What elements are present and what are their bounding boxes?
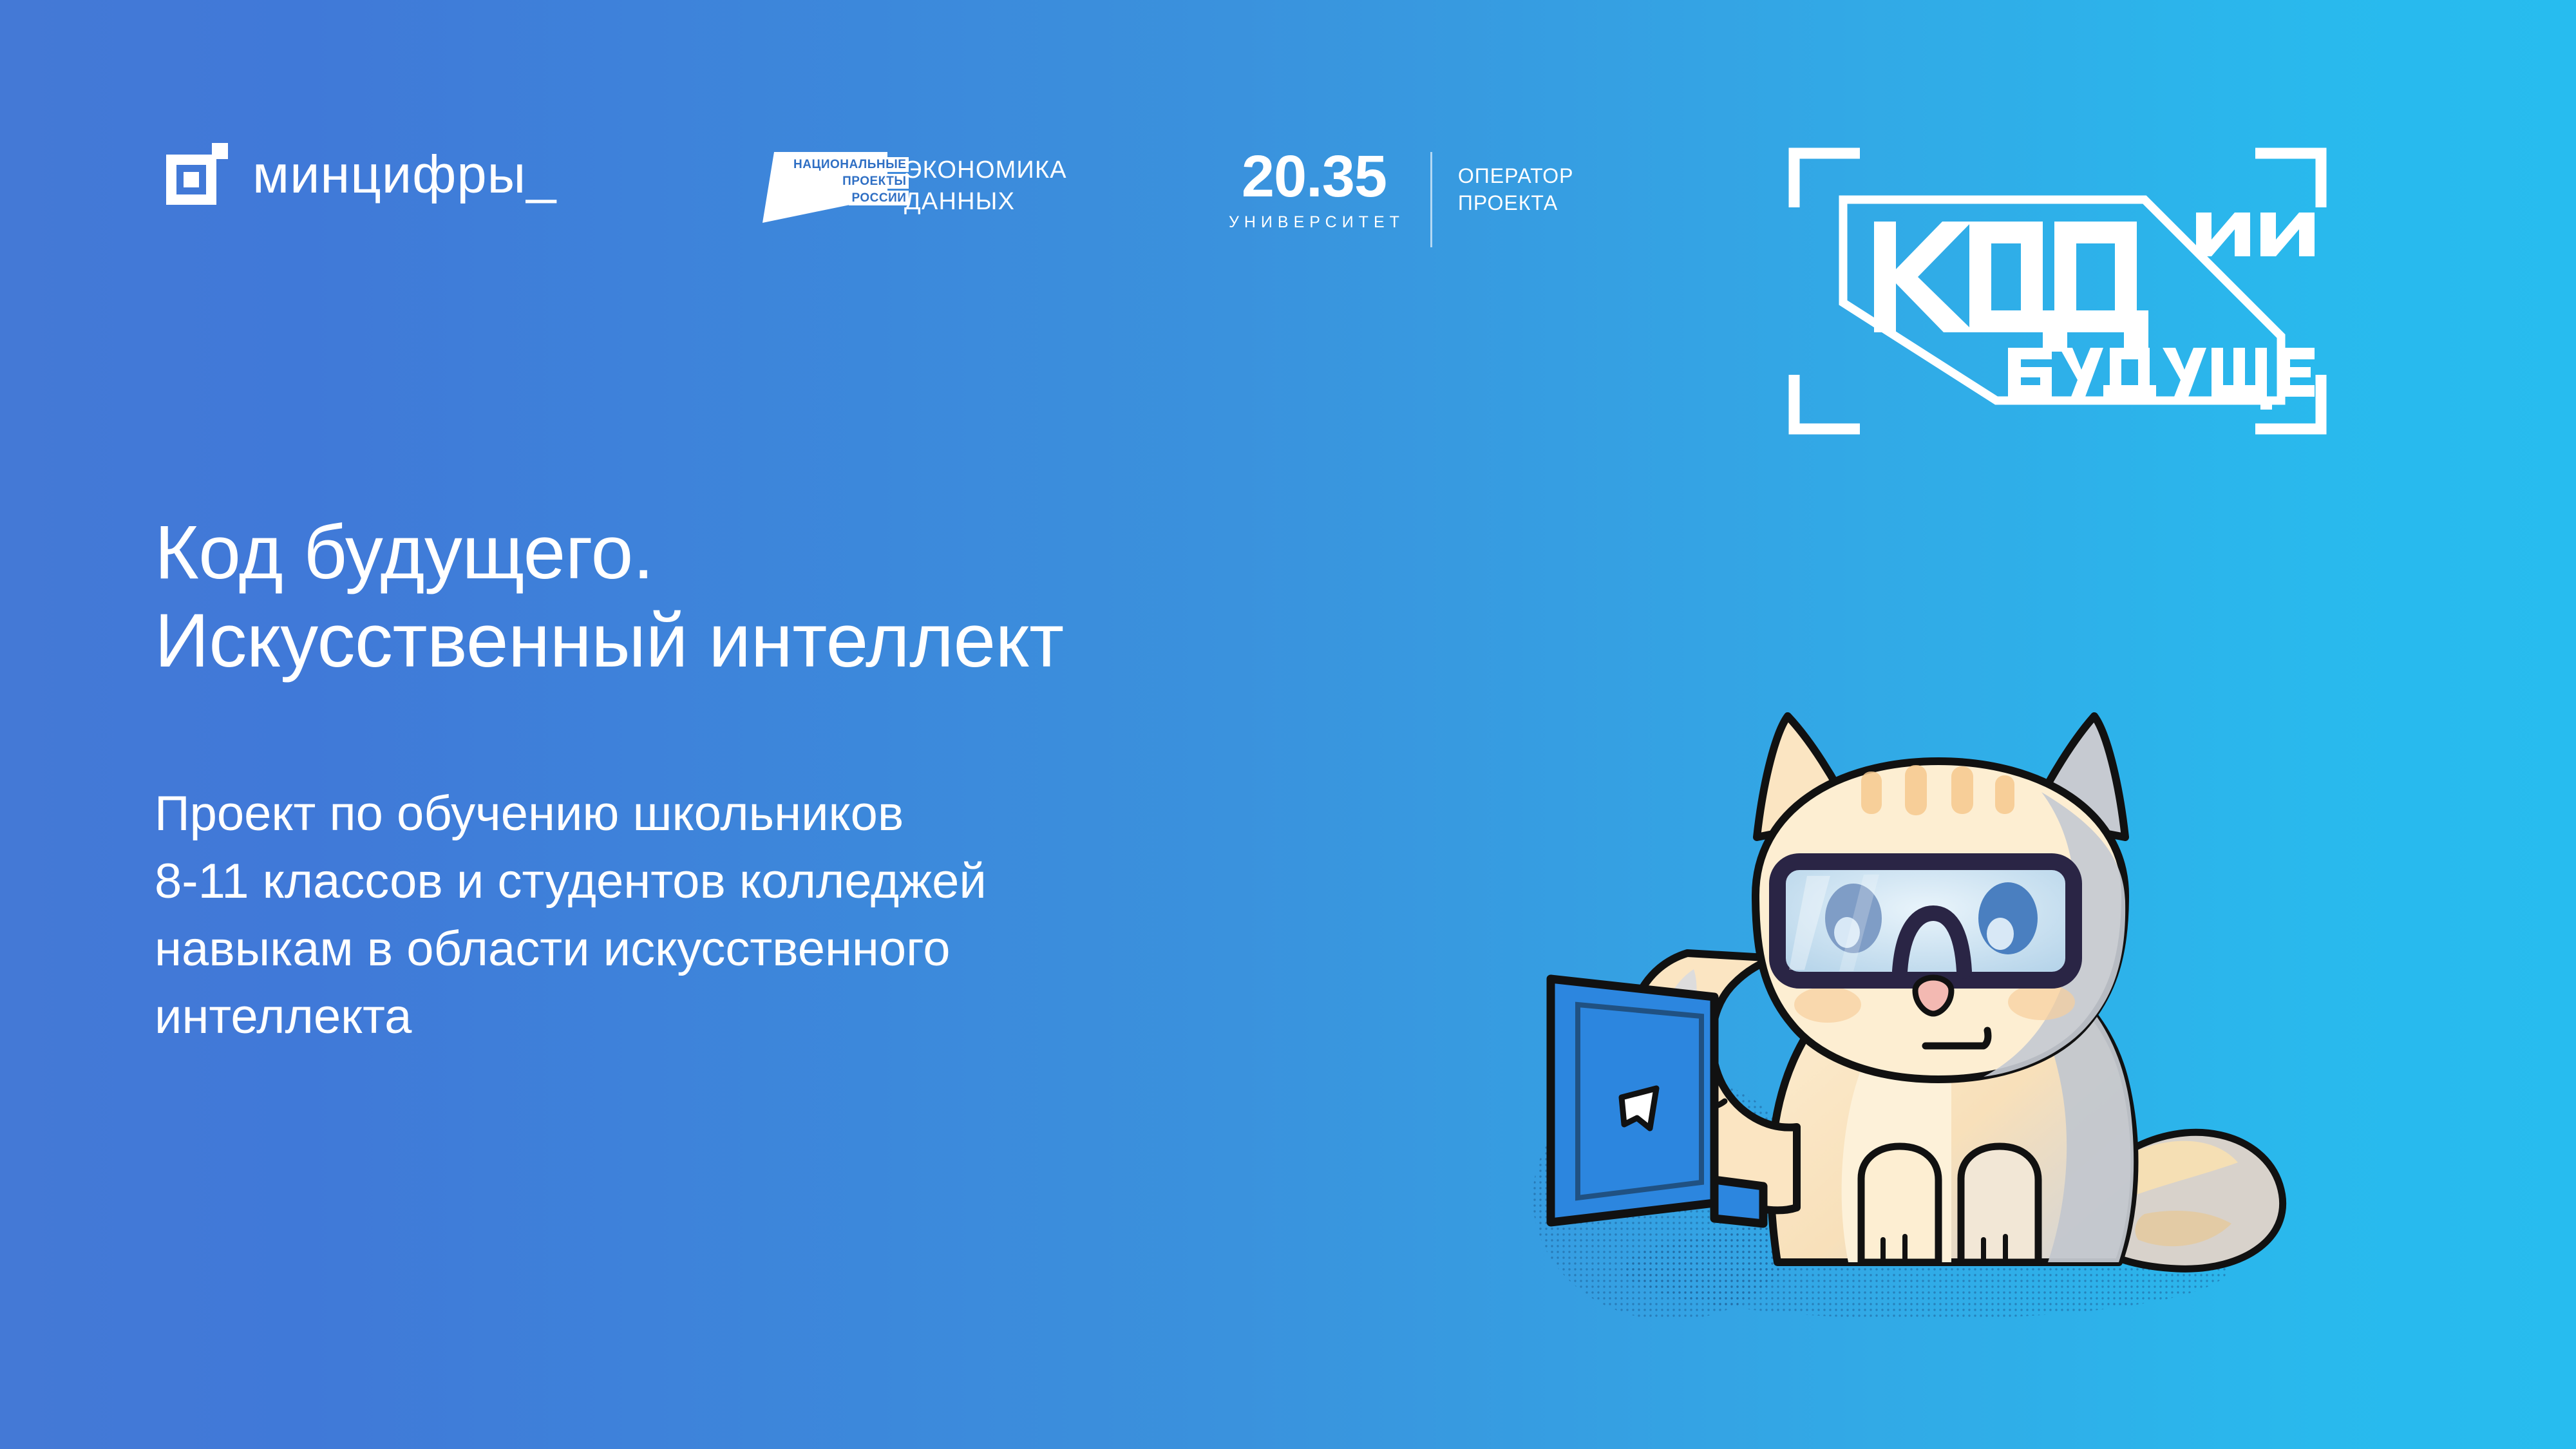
header-logo-bar: минцифры_ НАЦИОНАЛЬНЫЕ ПРОЕКТЫ РОССИИ ЭК… xyxy=(0,0,2576,361)
vr-goggles-icon xyxy=(1777,862,2074,980)
operator-line-2: ПРОЕКТА xyxy=(1458,189,1574,216)
ministry-logo[interactable]: минцифры_ xyxy=(166,143,556,205)
laptop-cursor-icon xyxy=(1622,1088,1656,1128)
natproj-line-3: РОССИИ xyxy=(849,191,909,205)
kod-budushchego-logo[interactable] xyxy=(1784,143,2331,439)
national-projects-logo[interactable]: НАЦИОНАЛЬНЫЕ ПРОЕКТЫ РОССИИ ЭКОНОМИКА ДА… xyxy=(760,147,1067,224)
ministry-square-mark-icon xyxy=(166,143,228,205)
project-operator-label: ОПЕРАТОР ПРОЕКТА xyxy=(1458,149,1574,216)
vertical-divider xyxy=(1430,152,1432,247)
university-2035-logo[interactable]: 20.35 УНИВЕРСИТЕТ ОПЕРАТОР ПРОЕКТА xyxy=(1224,149,1574,247)
kod-wordmark xyxy=(1874,222,2148,352)
ministry-wordmark: минцифры_ xyxy=(252,147,556,201)
university-subtitle: УНИВЕРСИТЕТ xyxy=(1224,214,1405,231)
data-economy-line-1: ЭКОНОМИКА xyxy=(904,155,1067,186)
operator-line-1: ОПЕРАТОР xyxy=(1458,162,1574,189)
page-title: Код будущего. Искусственный интеллект xyxy=(155,509,1064,685)
natproj-line-1: НАЦИОНАЛЬНЫЕ xyxy=(791,157,909,172)
natproj-line-2: ПРОЕКТЫ xyxy=(840,174,909,189)
university-number: 20.35 xyxy=(1242,149,1387,204)
data-economy-line-2: ДАННЫХ xyxy=(904,186,1067,218)
university-wordmark: 20.35 УНИВЕРСИТЕТ xyxy=(1224,149,1405,231)
cat-illustration xyxy=(1475,618,2325,1333)
poster-canvas: минцифры_ НАЦИОНАЛЬНЫЕ ПРОЕКТЫ РОССИИ ЭК… xyxy=(0,0,2576,1449)
data-economy-label: ЭКОНОМИКА ДАННЫХ xyxy=(904,147,1067,217)
page-subtitle: Проект по обучению школьников 8-11 класс… xyxy=(155,781,987,1051)
national-projects-flag-icon: НАЦИОНАЛЬНЫЕ ПРОЕКТЫ РОССИИ xyxy=(760,147,889,224)
ii-badge-text xyxy=(2196,213,2315,256)
